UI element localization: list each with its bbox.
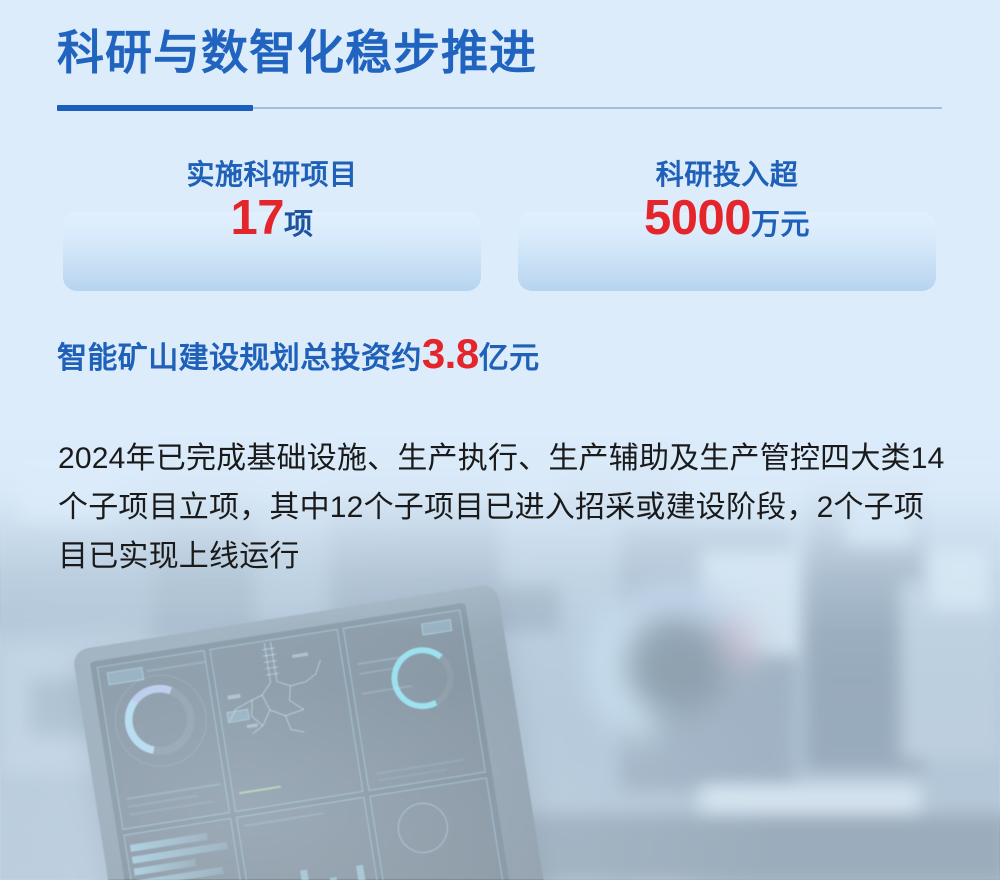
header: 科研与数智化稳步推进 [57, 26, 537, 81]
highlight-value: 3.8 [422, 330, 479, 377]
title-divider [57, 105, 942, 111]
highlight-suffix: 亿元 [479, 342, 540, 375]
body-paragraph: 2024年已完成基础设施、生产执行、生产辅助及生产管控四大类14个子项目立项，其… [58, 434, 946, 581]
divider-strong-segment [57, 105, 253, 111]
page-title: 科研与数智化稳步推进 [57, 26, 537, 81]
divider-light-segment [253, 107, 942, 109]
stat-card-research-projects: 实施科研项目 17项 [63, 212, 481, 291]
stat-number: 5000 [644, 191, 751, 245]
stat-unit: 项 [284, 209, 314, 241]
stat-value-row: 17项 [63, 193, 481, 245]
highlight-line: 智能矿山建设规划总投资约3.8亿元 [57, 331, 540, 377]
stat-unit: 万元 [751, 209, 810, 241]
highlight-prefix: 智能矿山建设规划总投资约 [57, 342, 422, 375]
stat-content: 实施科研项目 17项 [63, 157, 481, 245]
stat-card-research-investment: 科研投入超 5000万元 [518, 212, 936, 291]
infographic-page: 科研与数智化稳步推进 实施科研项目 17项 科研投入超 5000万元 智能 [0, 0, 1000, 880]
stat-card-list: 实施科研项目 17项 科研投入超 5000万元 [63, 212, 937, 291]
stat-number: 17 [230, 191, 284, 245]
stat-label: 科研投入超 [518, 157, 936, 193]
stat-label: 实施科研项目 [63, 157, 481, 193]
stat-content: 科研投入超 5000万元 [518, 157, 936, 245]
stat-value-row: 5000万元 [518, 193, 936, 245]
